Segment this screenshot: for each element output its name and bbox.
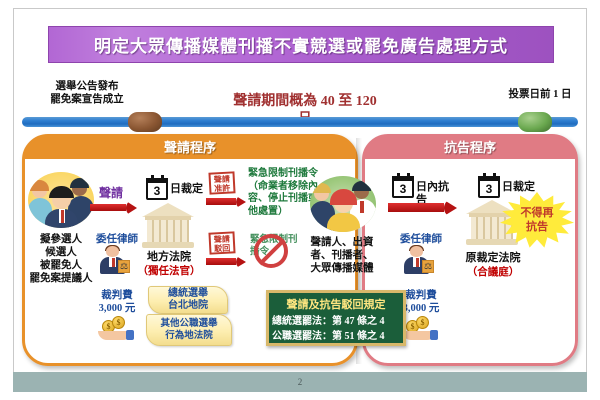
calendar-number-left: 3 xyxy=(148,184,166,198)
calendar-icon-ruling-right: 3 xyxy=(478,176,500,198)
coins-hand-icon-left: $ $ xyxy=(98,316,136,342)
applicants-avatar-group xyxy=(28,172,94,228)
scroll-other-public-office-court: 其他公職選舉 行為地法院 xyxy=(146,314,232,346)
page-number: 2 xyxy=(13,372,587,392)
board-title: 聲請及抗告駁回規定 xyxy=(269,296,403,312)
appellant-line3: 大眾傳播媒體 xyxy=(296,262,388,275)
district-court-name: 地方法院 xyxy=(136,251,202,264)
applicant-2: 候選人 xyxy=(12,246,110,259)
scroll1-line1: 總統選舉 xyxy=(168,288,208,300)
applicant-4: 罷免案提議人 xyxy=(12,272,110,285)
panel-left-title: 聲請程序 xyxy=(25,137,355,159)
original-court-name: 原裁定法院 xyxy=(458,252,528,265)
scroll2-line1: 其他公職選舉 xyxy=(160,318,217,330)
board-row-1: 總統選罷法：第 47 條之 4 xyxy=(272,315,406,328)
grant-arrow-icon xyxy=(206,196,246,207)
legal-reference-board: 聲請及抗告駁回規定 總統選罷法：第 47 條之 4 公職選罷法：第 51 條之 … xyxy=(266,290,406,346)
panel-right-title: 抗告程序 xyxy=(365,137,575,159)
district-court-icon xyxy=(142,203,194,249)
burst-line1: 不得再 xyxy=(500,206,574,220)
scroll2-line2: 行為地法院 xyxy=(165,330,213,342)
scroll1-line2: 台北地院 xyxy=(168,300,208,312)
apply-arrow-icon xyxy=(90,202,136,213)
calendar-icon-appeal: 3 xyxy=(392,176,414,198)
apply-arrow-label: 聲請 xyxy=(90,187,132,200)
timeline-end-knob xyxy=(518,112,552,132)
stamp-reject: 聲請駁回 xyxy=(208,231,235,254)
appellant-line2: 者、刊播者、 xyxy=(296,249,388,262)
slide-canvas: 明定大眾傳播媒體刊播不實競選或罷免廣告處理方式 選舉公告發布 罷免案宣告成立 聲… xyxy=(0,0,600,400)
burst-line2: 抗告 xyxy=(500,220,574,234)
page-title: 明定大眾傳播媒體刊播不實競選或罷免廣告處理方式 xyxy=(94,32,508,57)
stamp-grant: 聲請准許 xyxy=(208,171,235,194)
calendar-number-ruling: 3 xyxy=(480,182,498,196)
no-further-appeal-burst: 不得再 抗告 xyxy=(500,192,574,250)
prohibition-icon xyxy=(254,234,288,268)
appellants-label-list: 聲請人、出資 者、刊播者、 大眾傳播媒體 xyxy=(296,236,388,275)
board-row-2: 公職選罷法：第 51 條之 4 xyxy=(272,330,406,343)
timeline-left-line2: 罷免案宣告成立 xyxy=(22,93,152,106)
attorney-label-left: 委任律師 xyxy=(88,233,146,246)
district-court-sub: （獨任法官） xyxy=(132,265,206,278)
timeline-left-line1: 選舉公告發布 xyxy=(22,80,152,93)
appellant-line1: 聲請人、出資 xyxy=(296,236,388,249)
lawyer-icon-right xyxy=(402,246,432,274)
calendar-icon-ruling-left: 3 xyxy=(146,178,168,200)
footer-bar: 2 xyxy=(13,372,587,392)
appeal-arrow-icon xyxy=(388,202,456,213)
reject-arrow-icon xyxy=(206,256,246,267)
fee-amount-left: 3,000 元 xyxy=(88,302,146,315)
coins-hand-icon-right: $ $ xyxy=(402,316,440,342)
fee-label-left: 裁判費 xyxy=(88,289,146,302)
scroll-presidential-court: 總統選舉 台北地院 xyxy=(148,286,228,314)
applicant-3: 被罷免人 xyxy=(12,259,110,272)
calendar-number-appeal: 3 xyxy=(394,182,412,196)
timeline-right-label: 投票日前 1 日 xyxy=(488,88,592,101)
lawyer-icon-left xyxy=(98,246,128,274)
attorney-label-right: 委任律師 xyxy=(392,233,450,246)
timeline-left-label: 選舉公告發布 罷免案宣告成立 xyxy=(22,80,152,106)
original-court-sub: （合議庭） xyxy=(458,266,528,279)
slide-title-banner: 明定大眾傳播媒體刊播不實競選或罷免廣告處理方式 xyxy=(48,26,554,63)
timeline-bar xyxy=(22,117,578,127)
appellants-avatar-group xyxy=(310,176,376,232)
timeline-start-knob xyxy=(128,112,162,132)
